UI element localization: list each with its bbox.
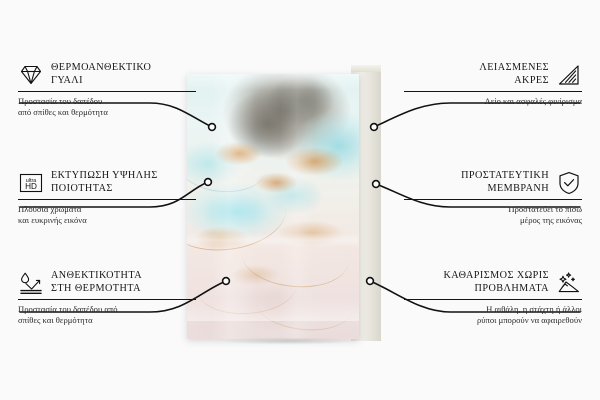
ultra-hd-bottom-label: HD — [25, 182, 37, 191]
divider — [404, 199, 582, 200]
ultra-hd-icon: ultra HD — [18, 170, 44, 196]
feature-header: ΚΑΘΑΡΙΣΜΟΣ ΧΩΡΙΣ ΠΡΟΒΛΗΜΑΤΑ — [404, 270, 582, 296]
feature-title-line: ΘΕΡΜΟΑΝΘΕΚΤΙΚΟ — [51, 62, 151, 75]
feature-easy-cleaning: ΚΑΘΑΡΙΣΜΟΣ ΧΩΡΙΣ ΠΡΟΒΛΗΜΑΤΑ Η αιθάλη, η … — [404, 270, 582, 325]
feature-body-line: μέρος της εικόνας — [404, 215, 582, 226]
divider — [18, 299, 196, 300]
callout-dot — [223, 278, 230, 285]
feature-header: ΠΡΟΣΤΑΤΕΥΤΙΚΗ ΜΕΜΒΡΑΝΗ — [404, 170, 582, 196]
feature-body-line: και ευκρινής εικόνα — [18, 215, 196, 226]
feature-body: Προστασία του δαπέδου από σπίθες και θερ… — [18, 304, 196, 325]
feature-heat-durability: ΑΝΘΕΚΤΙΚΟΤΗΤΑ ΣΤΗ ΘΕΡΜΟΤΗΤΑ Προστασία το… — [18, 270, 196, 325]
shield-check-icon — [556, 170, 582, 196]
feature-title-line: ΑΝΘΕΚΤΙΚΟΤΗΤΑ — [51, 270, 142, 283]
feature-polished-edges: ΛΕΙΑΣΜΕΝΕΣ ΑΚΡΕΣ Λείο και ασφαλές φινίρι… — [404, 62, 582, 107]
feature-title: ΚΑΘΑΡΙΣΜΟΣ ΧΩΡΙΣ ΠΡΟΒΛΗΜΑΤΑ — [443, 270, 549, 295]
sparkle-wipe-icon — [556, 270, 582, 296]
feature-body-line: σπίθες και θερμότητα — [18, 315, 196, 326]
feature-high-quality-print: ultra HD ΕΚΤΥΠΩΣΗ ΥΨΗΛΗΣ ΠΟΙΟΤΗΤΑΣ Πλούσ… — [18, 170, 196, 225]
feature-title: ΛΕΙΑΣΜΕΝΕΣ ΑΚΡΕΣ — [479, 62, 549, 87]
callout-dot — [205, 179, 212, 186]
feature-title-line: ΠΟΙΟΤΗΤΑΣ — [51, 183, 158, 196]
feature-body-line: Προστασία του δαπέδου από — [18, 304, 196, 315]
feature-body: Πλούσια χρώματα και ευκρινής εικόνα — [18, 204, 196, 225]
feature-title-line: ΛΕΙΑΣΜΕΝΕΣ — [479, 62, 549, 75]
feature-title: ΘΕΡΜΟΑΝΘΕΚΤΙΚΟ ΓΥΑΛΙ — [51, 62, 151, 87]
callout-dot — [371, 124, 378, 131]
feature-body-line: ρύποι μπορούν να αφαιρεθούν — [404, 315, 582, 326]
feature-body: Προστατεύει το πίσω μέρος της εικόνας — [404, 204, 582, 225]
feature-body: Προστασία του δαπέδου από σπίθες και θερ… — [18, 96, 196, 117]
feature-body: Η αιθάλη, η στάχτη ή άλλοι ρύποι μπορούν… — [404, 304, 582, 325]
feature-body-line: Η αιθάλη, η στάχτη ή άλλοι — [404, 304, 582, 315]
feature-title: ΑΝΘΕΚΤΙΚΟΤΗΤΑ ΣΤΗ ΘΕΡΜΟΤΗΤΑ — [51, 270, 142, 295]
feature-header: ΘΕΡΜΟΑΝΘΕΚΤΙΚΟ ΓΥΑΛΙ — [18, 62, 196, 88]
feature-header: ultra HD ΕΚΤΥΠΩΣΗ ΥΨΗΛΗΣ ΠΟΙΟΤΗΤΑΣ — [18, 170, 196, 196]
divider — [18, 199, 196, 200]
feature-header: ΛΕΙΑΣΜΕΝΕΣ ΑΚΡΕΣ — [404, 62, 582, 88]
diagonal-stripes-icon — [556, 62, 582, 88]
feature-heat-resistant-glass: ΘΕΡΜΟΑΝΘΕΚΤΙΚΟ ΓΥΑΛΙ Προστασία του δαπέδ… — [18, 62, 196, 117]
flame-drop-on-surface-icon — [18, 270, 44, 296]
feature-title-line: ΠΡΟΣΤΑΤΕΥΤΙΚΗ — [461, 170, 549, 183]
callout-dot — [367, 278, 374, 285]
divider — [404, 91, 582, 92]
feature-title-line: ΣΤΗ ΘΕΡΜΟΤΗΤΑ — [51, 283, 142, 296]
feature-body: Λείο και ασφαλές φινίρισμα — [404, 96, 582, 107]
feature-title-line: ΚΑΘΑΡΙΣΜΟΣ ΧΩΡΙΣ — [443, 270, 549, 283]
feature-title-line: ΠΡΟΒΛΗΜΑΤΑ — [443, 283, 549, 296]
feature-title-line: ΑΚΡΕΣ — [479, 75, 549, 88]
feature-title: ΕΚΤΥΠΩΣΗ ΥΨΗΛΗΣ ΠΟΙΟΤΗΤΑΣ — [51, 170, 158, 195]
feature-protective-membrane: ΠΡΟΣΤΑΤΕΥΤΙΚΗ ΜΕΜΒΡΑΝΗ Προστατεύει το πί… — [404, 170, 582, 225]
feature-body-line: Πλούσια χρώματα — [18, 204, 196, 215]
infographic-stage: ΘΕΡΜΟΑΝΘΕΚΤΙΚΟ ΓΥΑΛΙ Προστασία του δαπέδ… — [0, 0, 600, 400]
feature-title-line: ΓΥΑΛΙ — [51, 75, 151, 88]
feature-body-line: από σπίθες και θερμότητα — [18, 107, 196, 118]
feature-body-line: Προστασία του δαπέδου — [18, 96, 196, 107]
callout-dot — [209, 124, 216, 131]
feature-header: ΑΝΘΕΚΤΙΚΟΤΗΤΑ ΣΤΗ ΘΕΡΜΟΤΗΤΑ — [18, 270, 196, 296]
feature-body-line: Προστατεύει το πίσω — [404, 204, 582, 215]
feature-body-line: Λείο και ασφαλές φινίρισμα — [404, 96, 582, 107]
feature-title-line: ΜΕΜΒΡΑΝΗ — [461, 183, 549, 196]
callout-dot — [373, 181, 380, 188]
divider — [18, 91, 196, 92]
diamond-icon — [18, 62, 44, 88]
feature-title-line: ΕΚΤΥΠΩΣΗ ΥΨΗΛΗΣ — [51, 170, 158, 183]
divider — [404, 299, 582, 300]
feature-title: ΠΡΟΣΤΑΤΕΥΤΙΚΗ ΜΕΜΒΡΑΝΗ — [461, 170, 549, 195]
